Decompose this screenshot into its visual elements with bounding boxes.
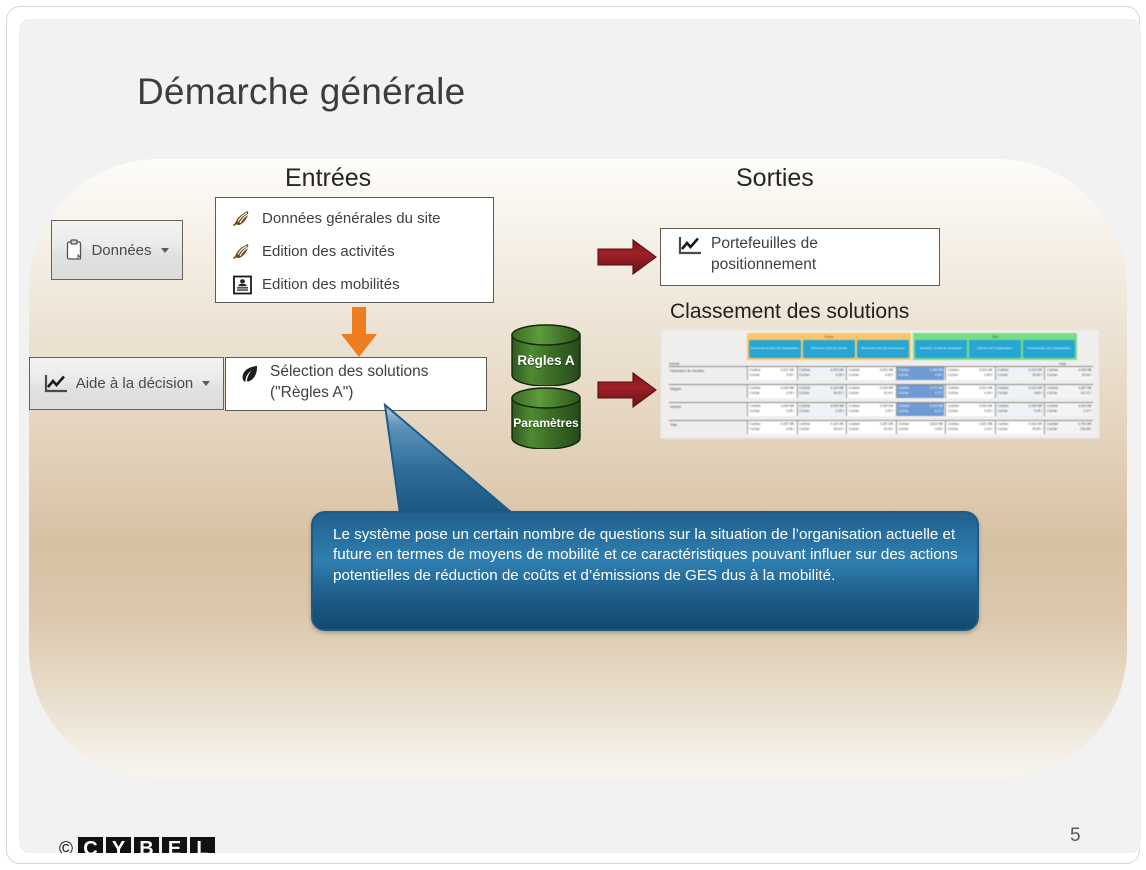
table-cell: Coût/an0,013 M€Co2/an4,80 t [995, 385, 1044, 398]
table-group-header-row: Propre Tiers [747, 333, 1077, 340]
table-cell-highlighted: Coût/an0,469 M€Co2/an3,36 t [896, 367, 945, 380]
ranking-table-screenshot[interactable]: Propre Tiers Personnel au sein de l'orga… [660, 329, 1100, 439]
table-column-header: Fournisseurs vers l'organisation [1023, 340, 1075, 358]
table-row-label: Négoce [669, 385, 747, 398]
table-cell-total: Coût/an0,040 M€Co2/an0,27 t [1044, 403, 1093, 416]
table-column-header: Personnel chez les fournisseurs [857, 340, 909, 358]
table-cell: Coût/an0,000 M€Co2/an0,80 t [945, 367, 994, 380]
table-cell: Coût/an0,000 M€Co2/an0,05 t [945, 403, 994, 416]
ribbon-button-aide-decision-label: Aide à la décision [76, 375, 194, 392]
slide-canvas: Démarche générale Entrées Sorties Donnée… [19, 19, 1141, 853]
ribbon-button-aide-decision[interactable]: Aide à la décision [29, 357, 224, 410]
selection-box-text: Sélection des solutions ("Règles A") [270, 362, 429, 404]
table-cell: Coût/an0,000 M€Co2/an0,05 t [797, 403, 846, 416]
table-group-tiers: Tiers [913, 333, 1077, 340]
database-label: Règles A [510, 353, 582, 368]
arrow-right-icon [597, 238, 657, 276]
table-cell-total: Coût/an0,287 M€Co2/an110,12 t [1044, 385, 1093, 398]
table-cell-total: Coût/an0,499 M€Co2/an28,44 t [1044, 367, 1093, 380]
clipboard-icon [65, 239, 84, 261]
pencil-edit-icon [232, 242, 253, 261]
logo-letter: B [134, 837, 159, 853]
portfolio-box-text: Portefeuilles de positionnement [711, 234, 818, 276]
table-cell: Coût/an0,001 M€Co2/an4,05 t [846, 367, 895, 380]
column-heading-sorties: Sorties [736, 164, 814, 193]
list-item[interactable]: Edition des mobilités [216, 268, 493, 301]
callout-tail [375, 401, 513, 529]
logo-letter: Y [106, 837, 131, 853]
list-item-label: Données générales du site [262, 210, 440, 227]
ribbon-button-donnees-label: Données [91, 242, 151, 259]
callout-bubble: Le système pose un certain nombre de que… [311, 511, 979, 631]
database-cylinder-regles-a: Règles A [510, 324, 582, 386]
list-item[interactable]: Données générales du site [216, 202, 493, 235]
table-cell: Coût/an0,000 M€Co2/an0,05 t [995, 403, 1044, 416]
selection-line-2: ("Règles A") [270, 384, 353, 401]
portfolio-box-content: Portefeuilles de positionnement [661, 229, 939, 276]
table-column-header: Clients vers l'organisation [969, 340, 1021, 358]
slide-frame: Démarche générale Entrées Sorties Donnée… [6, 6, 1140, 864]
pencil-edit-icon [232, 209, 253, 228]
table-cell: Coût/an0,150 M€Co2/an84,52 t [797, 421, 846, 434]
table-cell: Coût/an0,001 M€Co2/an0,24 t [945, 421, 994, 434]
table-column-header: Personnel au sein de l'organisation [749, 340, 801, 358]
line-chart-icon [677, 234, 703, 257]
table-cell: Coût/an0,000 M€Co2/an0,05 t [747, 385, 796, 398]
table-cell: Coût/an0,042 M€Co2/an20,80 t [995, 421, 1044, 434]
page-number: 5 [1070, 825, 1081, 847]
selection-box-content: Sélection des solutions ("Règles A") [226, 358, 486, 404]
table-cell: Coût/an0,007 M€Co2/an3,05 t [747, 367, 796, 380]
portfolio-line-1: Portefeuilles de [711, 235, 818, 252]
table-cell: Coût/an0,012 M€Co2/an16,80 t [995, 367, 1044, 380]
database-cylinder-parametres: Paramètres [510, 387, 582, 449]
column-heading-entrees: Entrées [285, 164, 371, 193]
table-cell-total: Coût/an0,792 M€Co2/an136,88 t [1044, 421, 1093, 434]
table-column-header: Domicile / travail du prestataire [915, 340, 967, 358]
slide: Démarche générale Entrées Sorties Donnée… [0, 0, 1146, 870]
table-cell: Coût/an0,001 M€Co2/an0,24 t [945, 385, 994, 398]
logo-letter: C [78, 837, 103, 853]
table-cell: Coût/an0,057 M€Co2/an23,49 t [846, 421, 895, 434]
page-title: Démarche générale [137, 71, 465, 113]
table-row: Intrants Coût/an0,000 M€Co2/an0,05 t Coû… [669, 402, 1093, 416]
form-document-icon [232, 275, 253, 295]
ranking-table: Propre Tiers Personnel au sein de l'orga… [669, 332, 1093, 436]
table-row-total: Total Coût/an0,007 M€Co2/an3,05 t Coût/a… [669, 420, 1093, 434]
portfolio-line-2: positionnement [711, 256, 816, 273]
table-row: Fabrication de meubles Coût/an0,007 M€Co… [669, 366, 1093, 380]
table-row-label: Total [669, 421, 747, 434]
table-column-header: Personnel chez les clients [803, 340, 855, 358]
table-cell-highlighted: Coût/an0,063 M€Co2/an0,21 t [896, 403, 945, 416]
ribbon-button-donnees[interactable]: Données [51, 220, 183, 280]
arrow-down-icon [337, 307, 381, 359]
leaf-icon [240, 362, 260, 384]
table-cell: Coût/an0,000 M€Co2/an0,05 t [797, 367, 846, 380]
chevron-down-icon [161, 248, 169, 253]
selection-line-1: Sélection des solutions [270, 363, 429, 380]
chevron-down-icon [202, 381, 210, 386]
table-group-propre: Propre [747, 333, 911, 340]
table-cell: Coût/an0,104 M€Co2/an84,52 t [797, 385, 846, 398]
list-item-label: Edition des mobilités [262, 276, 400, 293]
table-column-header-row: Personnel au sein de l'organisation Pers… [747, 340, 1077, 360]
cybel-logo: © C Y B E L [59, 837, 215, 853]
table-cell: Coût/an0,007 M€Co2/an3,05 t [747, 421, 796, 434]
logo-letter: L [190, 837, 215, 853]
entries-box: Données générales du site Edition des ac… [215, 197, 494, 303]
logo-letter: E [162, 837, 187, 853]
copyright-symbol: © [59, 839, 73, 854]
ranking-heading: Classement des solutions [670, 300, 909, 324]
list-item-label: Edition des activités [262, 243, 395, 260]
line-chart-icon [43, 373, 69, 395]
table-cell: Coût/an0,524 M€Co2/an4,35 t [896, 421, 945, 434]
table-cell: Coût/an0,000 M€Co2/an0,05 t [747, 403, 796, 416]
arrow-right-icon [597, 371, 657, 409]
table-cell-highlighted: Coût/an0,071 M€Co2/an0,72 t [896, 385, 945, 398]
callout-text: Le système pose un certain nombre de que… [313, 513, 977, 586]
table-cell: Coût/an0,040 M€Co2/an19,44 t [846, 385, 895, 398]
table-cell: Coût/an0,000 M€Co2/an0,05 t [846, 403, 895, 416]
content-panel-background [29, 159, 1127, 779]
table-row: Négoce Coût/an0,000 M€Co2/an0,05 t Coût/… [669, 384, 1093, 398]
table-row-label: Intrants [669, 403, 747, 416]
database-label: Paramètres [510, 416, 582, 430]
table-row-label: Fabrication de meubles [669, 367, 747, 380]
list-item[interactable]: Edition des activités [216, 235, 493, 268]
portfolio-box: Portefeuilles de positionnement [660, 228, 940, 286]
